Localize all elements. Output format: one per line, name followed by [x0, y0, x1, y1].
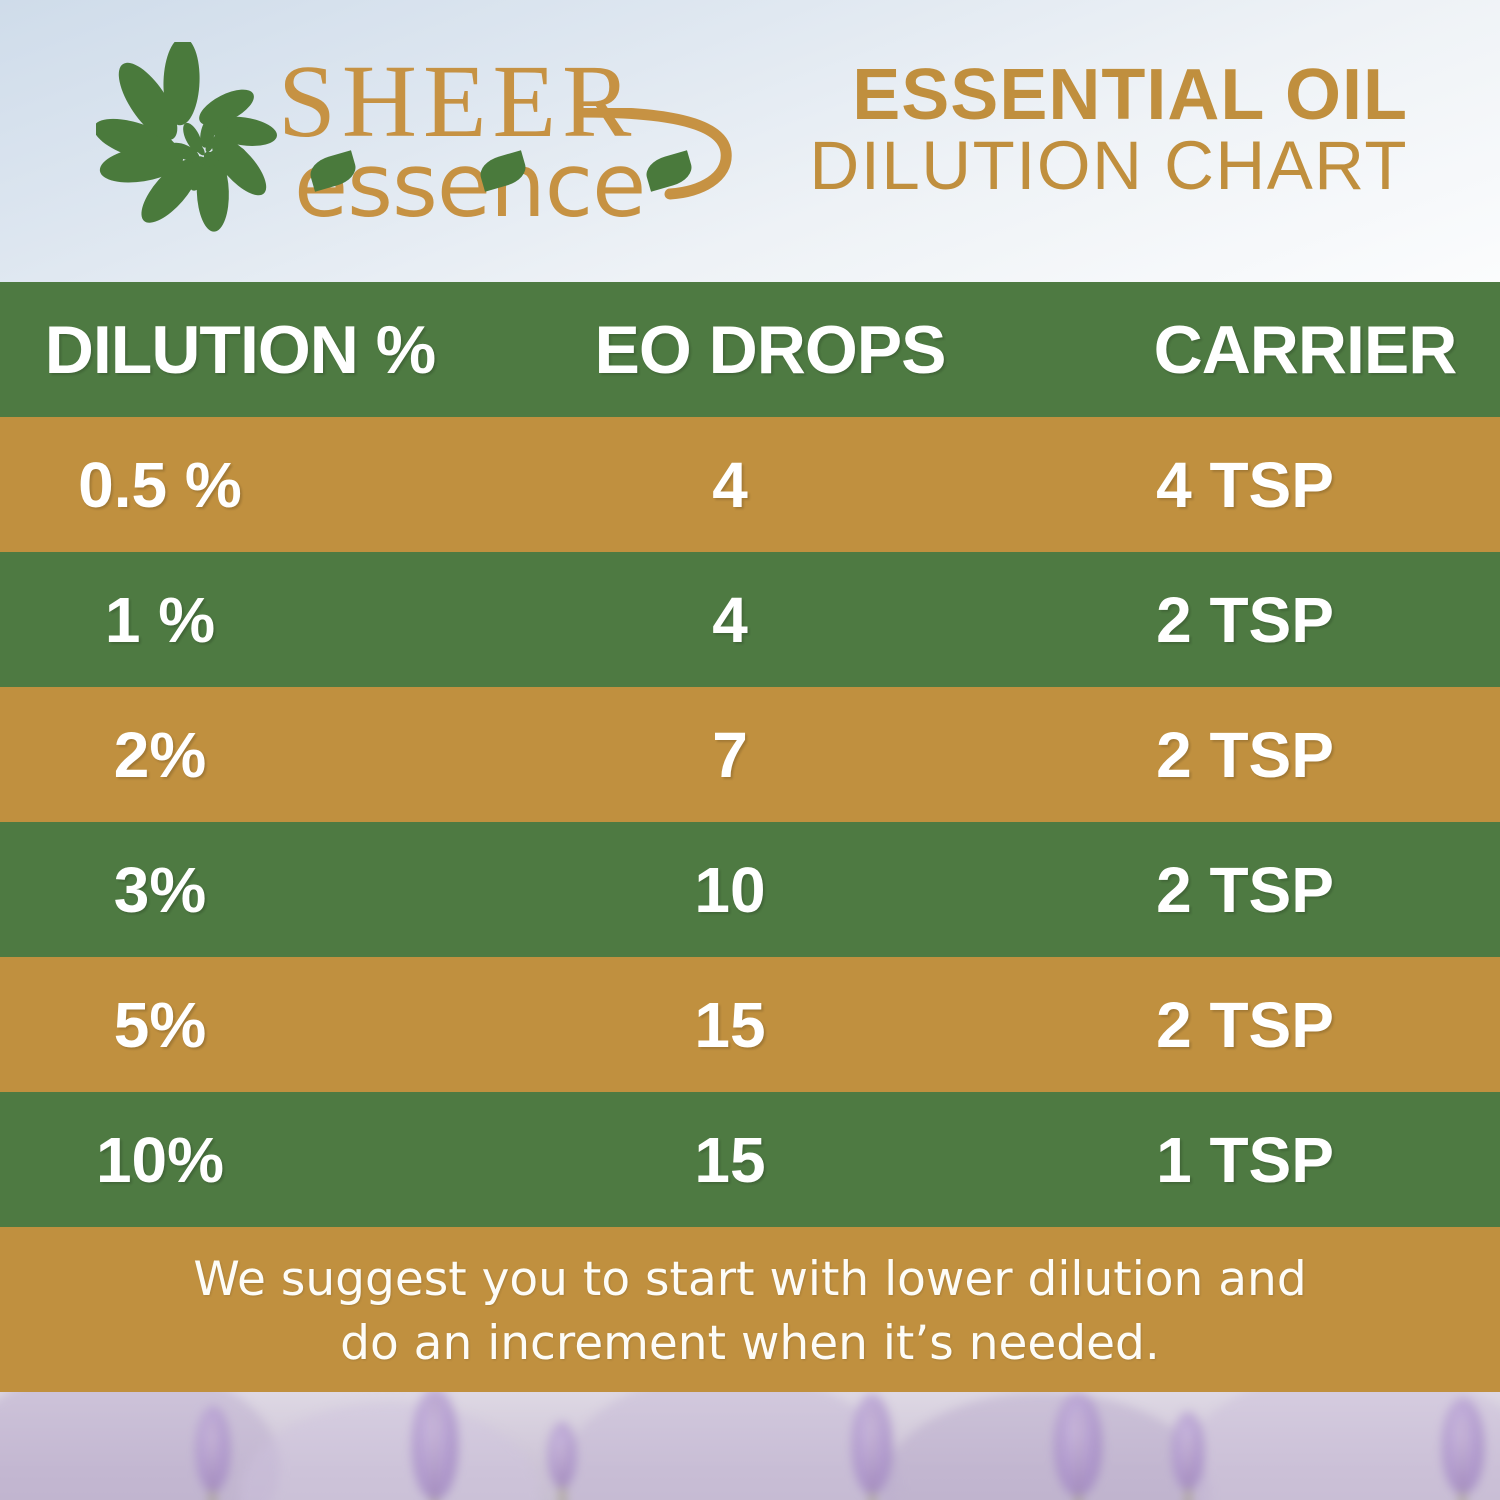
cell-eo-drops: 4	[560, 448, 1120, 522]
dilution-chart-infographic: SHEER essence ESSENTIAL OIL DILUTION CHA…	[0, 0, 1500, 1500]
column-header-eo-drops: EO DROPS	[560, 311, 1120, 389]
column-header-dilution: DILUTION %	[0, 311, 560, 389]
table-row: 1 % 4 2 TSP	[0, 552, 1500, 687]
note-line-1: We suggest you to start with lower dilut…	[193, 1248, 1306, 1311]
cell-carrier: 2 TSP	[1120, 853, 1500, 927]
lavender-field-photo	[0, 1392, 1500, 1500]
brand-lockup: SHEER essence	[96, 34, 716, 249]
cell-dilution: 10%	[0, 1123, 560, 1197]
cell-carrier: 2 TSP	[1120, 718, 1500, 792]
table-row: 3% 10 2 TSP	[0, 822, 1500, 957]
table-header-row: DILUTION % EO DROPS CARRIER	[0, 282, 1500, 417]
cell-dilution: 3%	[0, 853, 560, 927]
lavender-blur-layer	[0, 1392, 1500, 1500]
suggestion-note: We suggest you to start with lower dilut…	[0, 1227, 1500, 1392]
page-title: ESSENTIAL OIL DILUTION CHART	[809, 62, 1408, 199]
column-header-carrier: CARRIER	[1120, 311, 1500, 389]
cell-dilution: 5%	[0, 988, 560, 1062]
cell-eo-drops: 15	[560, 1123, 1120, 1197]
cell-eo-drops: 10	[560, 853, 1120, 927]
cell-dilution: 2%	[0, 718, 560, 792]
cell-dilution: 1 %	[0, 583, 560, 657]
table-row: 5% 15 2 TSP	[0, 957, 1500, 1092]
cell-carrier: 4 TSP	[1120, 448, 1500, 522]
table-row: 0.5 % 4 4 TSP	[0, 417, 1500, 552]
title-line-2: DILUTION CHART	[809, 134, 1408, 199]
wordmark: SHEER essence	[278, 50, 718, 250]
header-banner: SHEER essence ESSENTIAL OIL DILUTION CHA…	[0, 0, 1500, 282]
leaf-spiral-flower-icon	[96, 42, 292, 238]
cell-carrier: 2 TSP	[1120, 583, 1500, 657]
table-row: 10% 15 1 TSP	[0, 1092, 1500, 1227]
brand-name-bottom-wrap: essence	[294, 142, 714, 238]
note-line-2: do an increment when it’s needed.	[340, 1312, 1160, 1375]
dilution-table: DILUTION % EO DROPS CARRIER 0.5 % 4 4 TS…	[0, 282, 1500, 1227]
cell-eo-drops: 4	[560, 583, 1120, 657]
cell-eo-drops: 7	[560, 718, 1120, 792]
cell-carrier: 2 TSP	[1120, 988, 1500, 1062]
cell-eo-drops: 15	[560, 988, 1120, 1062]
title-line-1: ESSENTIAL OIL	[809, 62, 1408, 130]
cell-dilution: 0.5 %	[0, 448, 560, 522]
table-row: 2% 7 2 TSP	[0, 687, 1500, 822]
cell-carrier: 1 TSP	[1120, 1123, 1500, 1197]
